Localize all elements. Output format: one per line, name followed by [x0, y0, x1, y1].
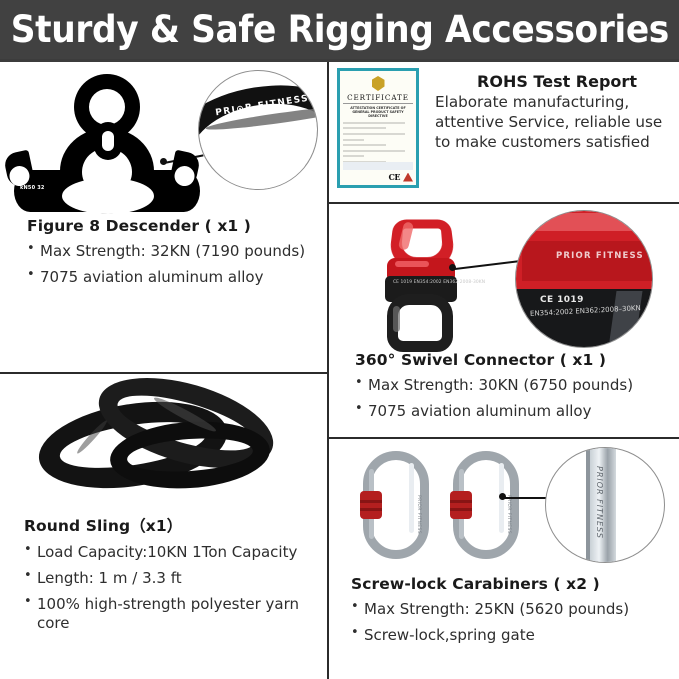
carabiner-callout-line	[505, 497, 549, 499]
figure8-title: Figure 8 Descender ( x1 )	[27, 217, 323, 235]
swivel-product-image: CE 1019 EN354:2002 EN362:2008-30KN PRIOR…	[329, 206, 679, 348]
product-card-sling: Round Sling（x1） Load Capacity:10KN 1Ton …	[0, 374, 327, 679]
figure8-horn-left	[3, 150, 36, 189]
figure8-magnified-band	[198, 74, 318, 188]
page-title: Sturdy & Safe Rigging Accessories	[10, 8, 668, 51]
rohs-title: ROHS Test Report	[435, 72, 679, 91]
ce-mark-icon: CE	[389, 172, 400, 182]
list-item: 100% high-strength polyester yarn core	[24, 595, 330, 633]
warning-triangle-icon	[403, 173, 413, 182]
swivel-bullet-list: Max Strength: 30KN (6750 pounds) 7075 av…	[355, 376, 675, 421]
figure8-center-slot	[94, 122, 122, 160]
carabiner-engraving-1: PRIOR FITNESS	[416, 495, 421, 534]
carabiner-bullet-list: Max Strength: 25KN (5620 pounds) Screw-l…	[351, 600, 675, 645]
certificate-crest-icon	[372, 76, 385, 91]
product-card-figure8: kN50 32 PRIOR FITNESS PRI⊙R FITNESS kN50…	[0, 62, 327, 372]
certificate-footer: CE	[343, 162, 413, 182]
swivel-text-block: 360° Swivel Connector ( x1 ) Max Strengt…	[355, 351, 675, 428]
list-item: Screw-lock,spring gate	[351, 626, 675, 645]
list-item: 7075 aviation aluminum alloy	[355, 402, 675, 421]
certificate-marks: CE	[343, 172, 413, 182]
swivel-magnified-brand-text: PRIOR FITNESS	[556, 251, 644, 261]
certificate-heading: CERTIFICATE	[343, 93, 413, 104]
sling-title: Round Sling（x1）	[24, 514, 330, 536]
swivel-magnified-ce-text: CE 1019	[540, 295, 584, 305]
list-item: Max Strength: 32KN (7190 pounds)	[27, 242, 323, 261]
figure8-engraving-left: kN50 32	[20, 186, 45, 191]
product-card-carabiner: PRIOR FITNESS PRIOR FITNESS PRIOR FITNES…	[329, 439, 679, 679]
certificate-image: CERTIFICATE ATTESTATION CERTIFICATE OF G…	[337, 68, 419, 188]
swivel-barrel-engraving: CE 1019 EN354:2002 EN362:2008-30KN	[393, 280, 485, 286]
list-item: Length: 1 m / 3.3 ft	[24, 569, 330, 588]
list-item: 7075 aviation aluminum alloy	[27, 268, 323, 287]
swivel-magnifier: PRIOR FITNESS CE 1019 EN354:2002 EN362:2…	[515, 210, 653, 348]
product-card-rohs: CERTIFICATE ATTESTATION CERTIFICATE OF G…	[329, 62, 679, 202]
carabiner-product-image: PRIOR FITNESS PRIOR FITNESS PRIOR FITNES…	[329, 441, 679, 569]
infographic-page: Sturdy & Safe Rigging Accessories kN50 3…	[0, 0, 679, 679]
list-item: Max Strength: 30KN (6750 pounds)	[355, 376, 675, 395]
swivel-callout-line	[455, 260, 519, 269]
figure8-bullet-list: Max Strength: 32KN (7190 pounds) 7075 av…	[27, 242, 323, 287]
rohs-text-block: ROHS Test Report Elaborate manufacturing…	[435, 68, 679, 152]
carabiner-engraving-2: PRIOR FITNESS	[506, 495, 511, 534]
swivel-title: 360° Swivel Connector ( x1 )	[355, 351, 675, 369]
carabiner-magnified-engraving-text: PRIOR FITNESS	[595, 466, 604, 539]
figure8-magnifier: PRI⊙R FITNESS kN50	[198, 70, 318, 190]
product-card-swivel: CE 1019 EN354:2002 EN362:2008-30KN PRIOR…	[329, 204, 679, 437]
rohs-row: CERTIFICATE ATTESTATION CERTIFICATE OF G…	[337, 68, 679, 200]
figure8-engraving-bottom: PRIOR FITNESS	[72, 202, 118, 207]
swivel-cap-highlight	[395, 261, 429, 267]
list-item: Load Capacity:10KN 1Ton Capacity	[24, 543, 330, 562]
swivel-magnified-red-highlight	[517, 213, 653, 231]
certificate-subheading: ATTESTATION CERTIFICATE OF GENERAL PRODU…	[343, 106, 413, 119]
carabiner-shine-1	[409, 463, 414, 533]
header-banner: Sturdy & Safe Rigging Accessories	[0, 0, 679, 59]
figure8-text-block: Figure 8 Descender ( x1 ) Max Strength: …	[27, 217, 323, 294]
carabiner-magnifier: PRIOR FITNESS	[545, 447, 665, 563]
carabiner-screwlock-1	[360, 491, 382, 519]
rohs-body-text: Elaborate manufacturing, attentive Servi…	[435, 93, 679, 152]
swivel-bottom-gloss	[393, 306, 400, 332]
list-item: Max Strength: 25KN (5620 pounds)	[351, 600, 675, 619]
swivel-magnified-red-face	[522, 241, 653, 281]
carabiner-text-block: Screw-lock Carabiners ( x2 ) Max Strengt…	[351, 575, 675, 652]
figure8-product-image: kN50 32 PRIOR FITNESS PRI⊙R FITNESS kN50	[0, 62, 327, 207]
sling-bullet-list: Load Capacity:10KN 1Ton Capacity Length:…	[24, 543, 330, 633]
sling-product-image	[0, 376, 327, 504]
carabiner-screwlock-2	[450, 491, 472, 519]
sling-text-block: Round Sling（x1） Load Capacity:10KN 1Ton …	[24, 514, 330, 640]
carabiner-title: Screw-lock Carabiners ( x2 )	[351, 575, 675, 593]
figure8-descender-icon: kN50 32 PRIOR FITNESS	[28, 74, 188, 202]
figure8-base-cutout	[62, 178, 154, 214]
